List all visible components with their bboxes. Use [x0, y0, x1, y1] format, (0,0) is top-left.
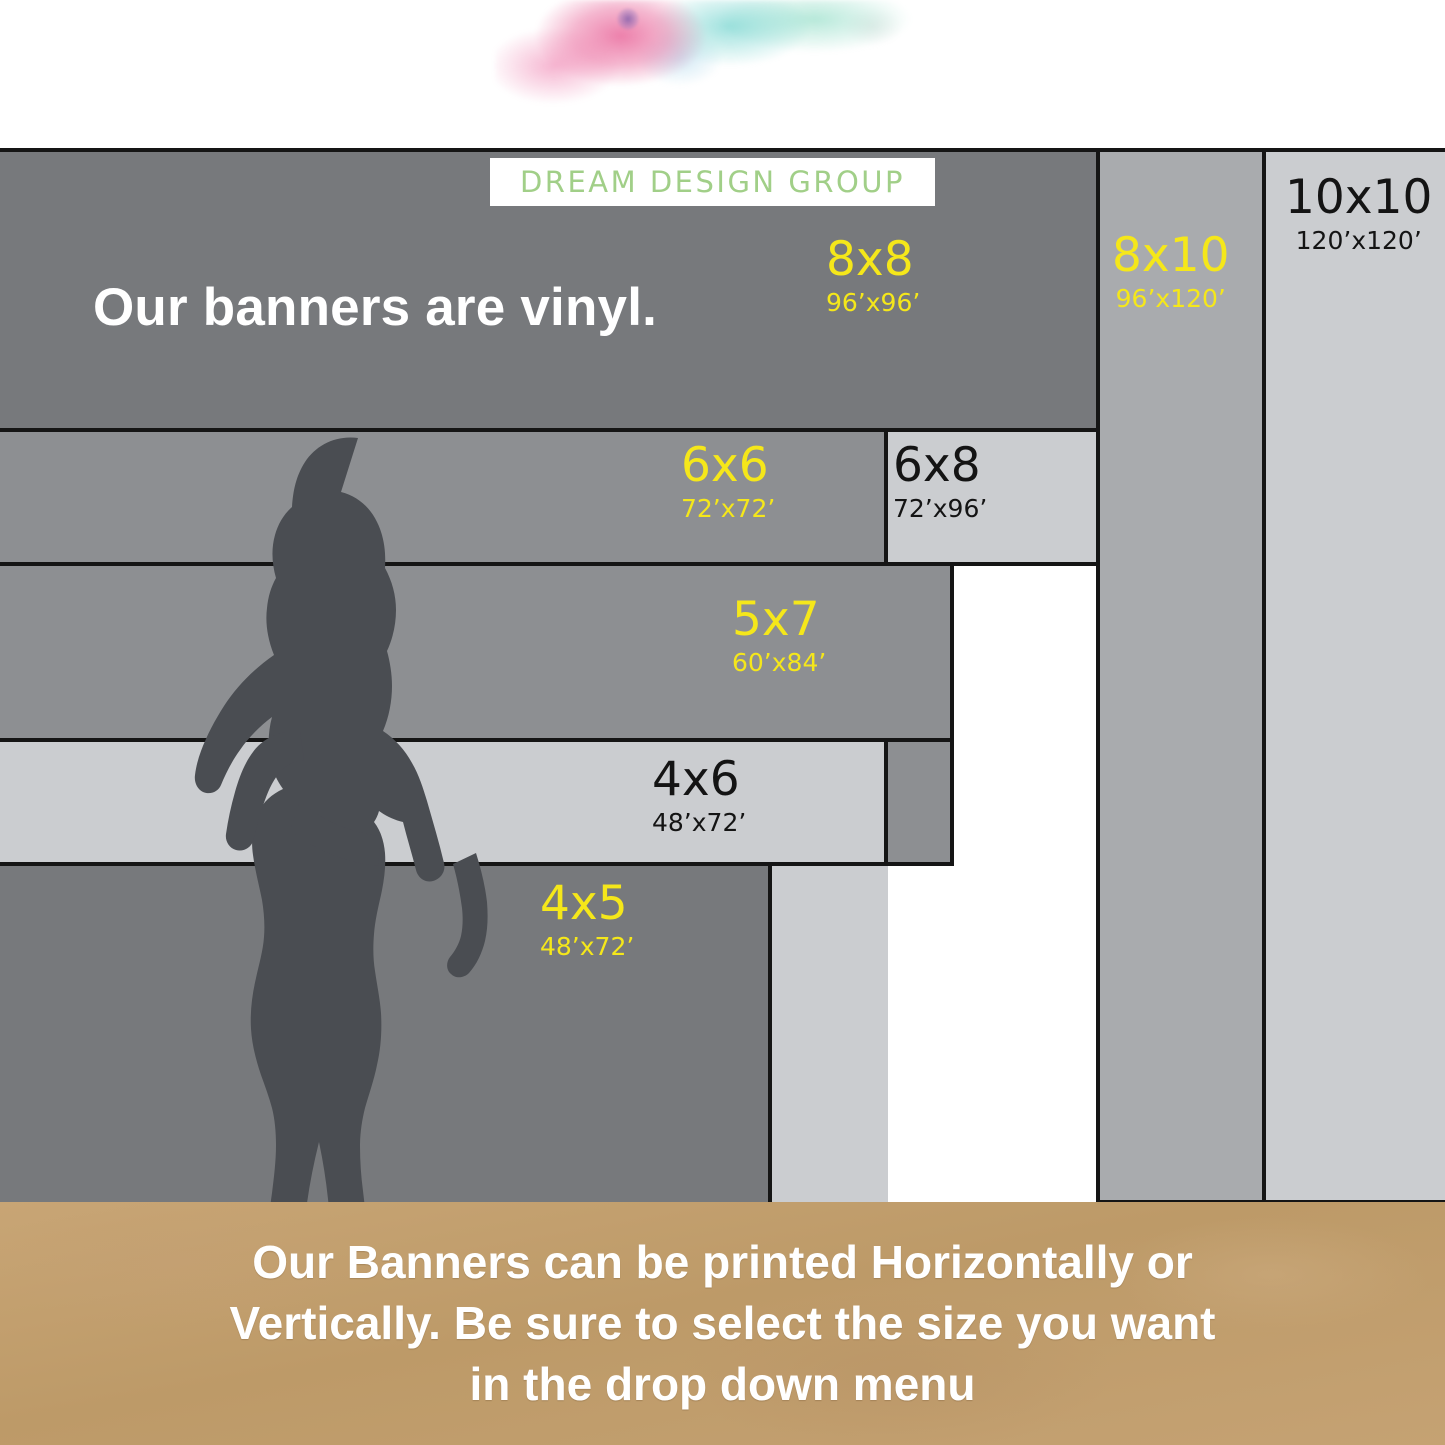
size-comparison-diagram: Our banners are vinyl. 8x8 96’x96’ 8x10 …	[0, 152, 1445, 1204]
label-4x6: 4x6 48’x72’	[652, 756, 746, 835]
brand-logo-plate: DREAM DESIGN GROUP	[490, 158, 935, 206]
label-4x6-title: 4x6	[652, 756, 746, 803]
label-5x7-dims: 60’x84’	[732, 650, 826, 675]
label-8x8-dims: 96’x96’	[826, 290, 920, 315]
label-6x8-dims: 72’x96’	[893, 496, 987, 521]
label-10x10-title: 10x10	[1285, 174, 1432, 221]
label-4x5: 4x5 48’x72’	[540, 880, 634, 959]
size-block-4x5[interactable]	[0, 862, 772, 1208]
logo-watercolor-icon	[495, 0, 915, 120]
footer-line-3: in the drop down menu	[470, 1354, 976, 1415]
label-5x7: 5x7 60’x84’	[732, 596, 826, 675]
label-6x8: 6x8 72’x96’	[893, 442, 987, 521]
label-5x7-title: 5x7	[732, 596, 826, 643]
footer-line-2: Vertically. Be sure to select the size y…	[230, 1293, 1216, 1354]
label-10x10: 10x10 120’x120’	[1285, 174, 1432, 253]
size-block-10x10[interactable]	[1258, 148, 1445, 1204]
label-6x6: 6x6 72’x72’	[681, 442, 775, 521]
label-6x6-dims: 72’x72’	[681, 496, 775, 521]
size-block-5x7-extension[interactable]	[884, 738, 954, 866]
size-block-4x6[interactable]	[0, 738, 888, 866]
label-8x10-dims: 96’x120’	[1112, 286, 1230, 311]
label-8x10: 8x10 96’x120’	[1112, 232, 1230, 311]
logo-accent-dot-icon	[617, 8, 639, 30]
label-4x5-dims: 48’x72’	[540, 934, 634, 959]
label-6x8-title: 6x8	[893, 442, 987, 489]
label-10x10-dims: 120’x120’	[1285, 228, 1432, 253]
label-8x8: 8x8 96’x96’	[826, 236, 920, 315]
label-8x8-title: 8x8	[826, 236, 920, 283]
label-8x10-title: 8x10	[1112, 232, 1230, 279]
brand-logo-text: DREAM DESIGN GROUP	[520, 165, 905, 199]
banner-size-chart: Our banners are vinyl. 8x8 96’x96’ 8x10 …	[0, 0, 1445, 1445]
label-4x6-dims: 48’x72’	[652, 810, 746, 835]
page-title: Our banners are vinyl.	[93, 277, 657, 338]
footer-line-1: Our Banners can be printed Horizontally …	[252, 1232, 1193, 1293]
label-6x6-title: 6x6	[681, 442, 775, 489]
size-block-4x6-lower-fill	[772, 866, 888, 1204]
footer-message: Our Banners can be printed Horizontally …	[0, 1202, 1445, 1445]
label-4x5-title: 4x5	[540, 880, 634, 927]
